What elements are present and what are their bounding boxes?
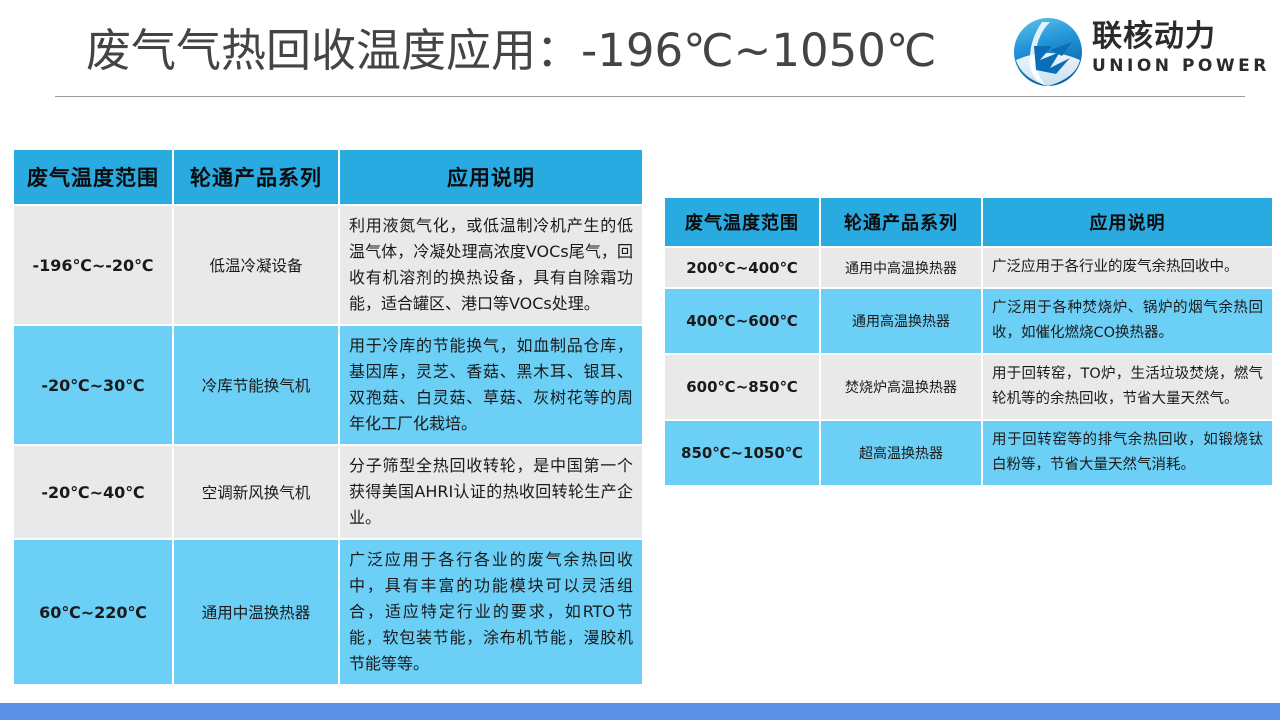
column-header-product-series: 轮通产品系列 (174, 150, 338, 204)
logo-name-en: UNION POWER (1092, 56, 1272, 76)
table-row: 200℃~400℃ 通用中高温换热器 广泛应用于各行业的废气余热回收中。 (665, 248, 1272, 287)
company-logo: 联核动力 UNION POWER (1012, 14, 1270, 88)
high-temperature-table: 废气温度范围 轮通产品系列 应用说明 200℃~400℃ 通用中高温换热器 广泛… (663, 196, 1274, 487)
table-header-row: 废气温度范围 轮通产品系列 应用说明 (14, 150, 642, 204)
low-to-mid-temperature-table: 废气温度范围 轮通产品系列 应用说明 -196℃~-20℃ 低温冷凝设备 利用液… (12, 148, 644, 686)
cell-temperature-range: 850℃~1050℃ (665, 421, 819, 485)
cell-application: 广泛应用于各行各业的废气余热回收中，具有丰富的功能模块可以灵活组合，适应特定行业… (340, 540, 642, 684)
logo-name-cn: 联核动力 (1092, 20, 1272, 54)
cell-application: 用于冷库的节能换气，如血制品仓库，基因库，灵芝、香菇、黑木耳、银耳、双孢菇、白灵… (340, 326, 642, 444)
cell-product-series: 超高温换热器 (821, 421, 981, 485)
column-header-product-series: 轮通产品系列 (821, 198, 981, 246)
cell-application: 用于回转窑，TO炉，生活垃圾焚烧，燃气轮机等的余热回收，节省大量天然气。 (983, 355, 1272, 419)
slide-header: 废气气热回收温度应用：-196℃~1050℃ (0, 0, 1280, 98)
table-row: 60℃~220℃ 通用中温换热器 广泛应用于各行各业的废气余热回收中，具有丰富的… (14, 540, 642, 684)
cell-application: 利用液氮气化，或低温制冷机产生的低温气体，冷凝处理高浓度VOCs尾气，回收有机溶… (340, 206, 642, 324)
table-header-row: 废气温度范围 轮通产品系列 应用说明 (665, 198, 1272, 246)
title-divider (55, 96, 1245, 97)
cell-temperature-range: -196℃~-20℃ (14, 206, 172, 324)
logo-text: 联核动力 UNION POWER (1092, 20, 1272, 76)
cell-application: 广泛用于各种焚烧炉、锅炉的烟气余热回收，如催化燃烧CO换热器。 (983, 289, 1272, 353)
cell-application: 用于回转窑等的排气余热回收，如锻烧钛白粉等，节省大量天然气消耗。 (983, 421, 1272, 485)
cell-product-series: 冷库节能换气机 (174, 326, 338, 444)
table-row: 400℃~600℃ 通用高温换热器 广泛用于各种焚烧炉、锅炉的烟气余热回收，如催… (665, 289, 1272, 353)
column-header-application: 应用说明 (340, 150, 642, 204)
cell-application: 分子筛型全热回收转轮，是中国第一个获得美国AHRI认证的热收回转轮生产企业。 (340, 446, 642, 538)
cell-temperature-range: 400℃~600℃ (665, 289, 819, 353)
table-row: -196℃~-20℃ 低温冷凝设备 利用液氮气化，或低温制冷机产生的低温气体，冷… (14, 206, 642, 324)
globe-swoosh-icon (1012, 16, 1084, 88)
cell-temperature-range: 60℃~220℃ (14, 540, 172, 684)
cell-product-series: 通用中高温换热器 (821, 248, 981, 287)
cell-product-series: 空调新风换气机 (174, 446, 338, 538)
table-row: 600℃~850℃ 焚烧炉高温换热器 用于回转窑，TO炉，生活垃圾焚烧，燃气轮机… (665, 355, 1272, 419)
footer-accent-bar (0, 703, 1280, 720)
column-header-application: 应用说明 (983, 198, 1272, 246)
cell-temperature-range: 600℃~850℃ (665, 355, 819, 419)
cell-product-series: 通用高温换热器 (821, 289, 981, 353)
cell-temperature-range: -20℃~30℃ (14, 326, 172, 444)
cell-product-series: 低温冷凝设备 (174, 206, 338, 324)
column-header-temperature-range: 废气温度范围 (14, 150, 172, 204)
table-row: -20℃~40℃ 空调新风换气机 分子筛型全热回收转轮，是中国第一个获得美国AH… (14, 446, 642, 538)
cell-product-series: 焚烧炉高温换热器 (821, 355, 981, 419)
cell-temperature-range: 200℃~400℃ (665, 248, 819, 287)
column-header-temperature-range: 废气温度范围 (665, 198, 819, 246)
cell-application: 广泛应用于各行业的废气余热回收中。 (983, 248, 1272, 287)
cell-product-series: 通用中温换热器 (174, 540, 338, 684)
table-row: 850℃~1050℃ 超高温换热器 用于回转窑等的排气余热回收，如锻烧钛白粉等，… (665, 421, 1272, 485)
table-row: -20℃~30℃ 冷库节能换气机 用于冷库的节能换气，如血制品仓库，基因库，灵芝… (14, 326, 642, 444)
page-title: 废气气热回收温度应用：-196℃~1050℃ (86, 22, 936, 80)
cell-temperature-range: -20℃~40℃ (14, 446, 172, 538)
